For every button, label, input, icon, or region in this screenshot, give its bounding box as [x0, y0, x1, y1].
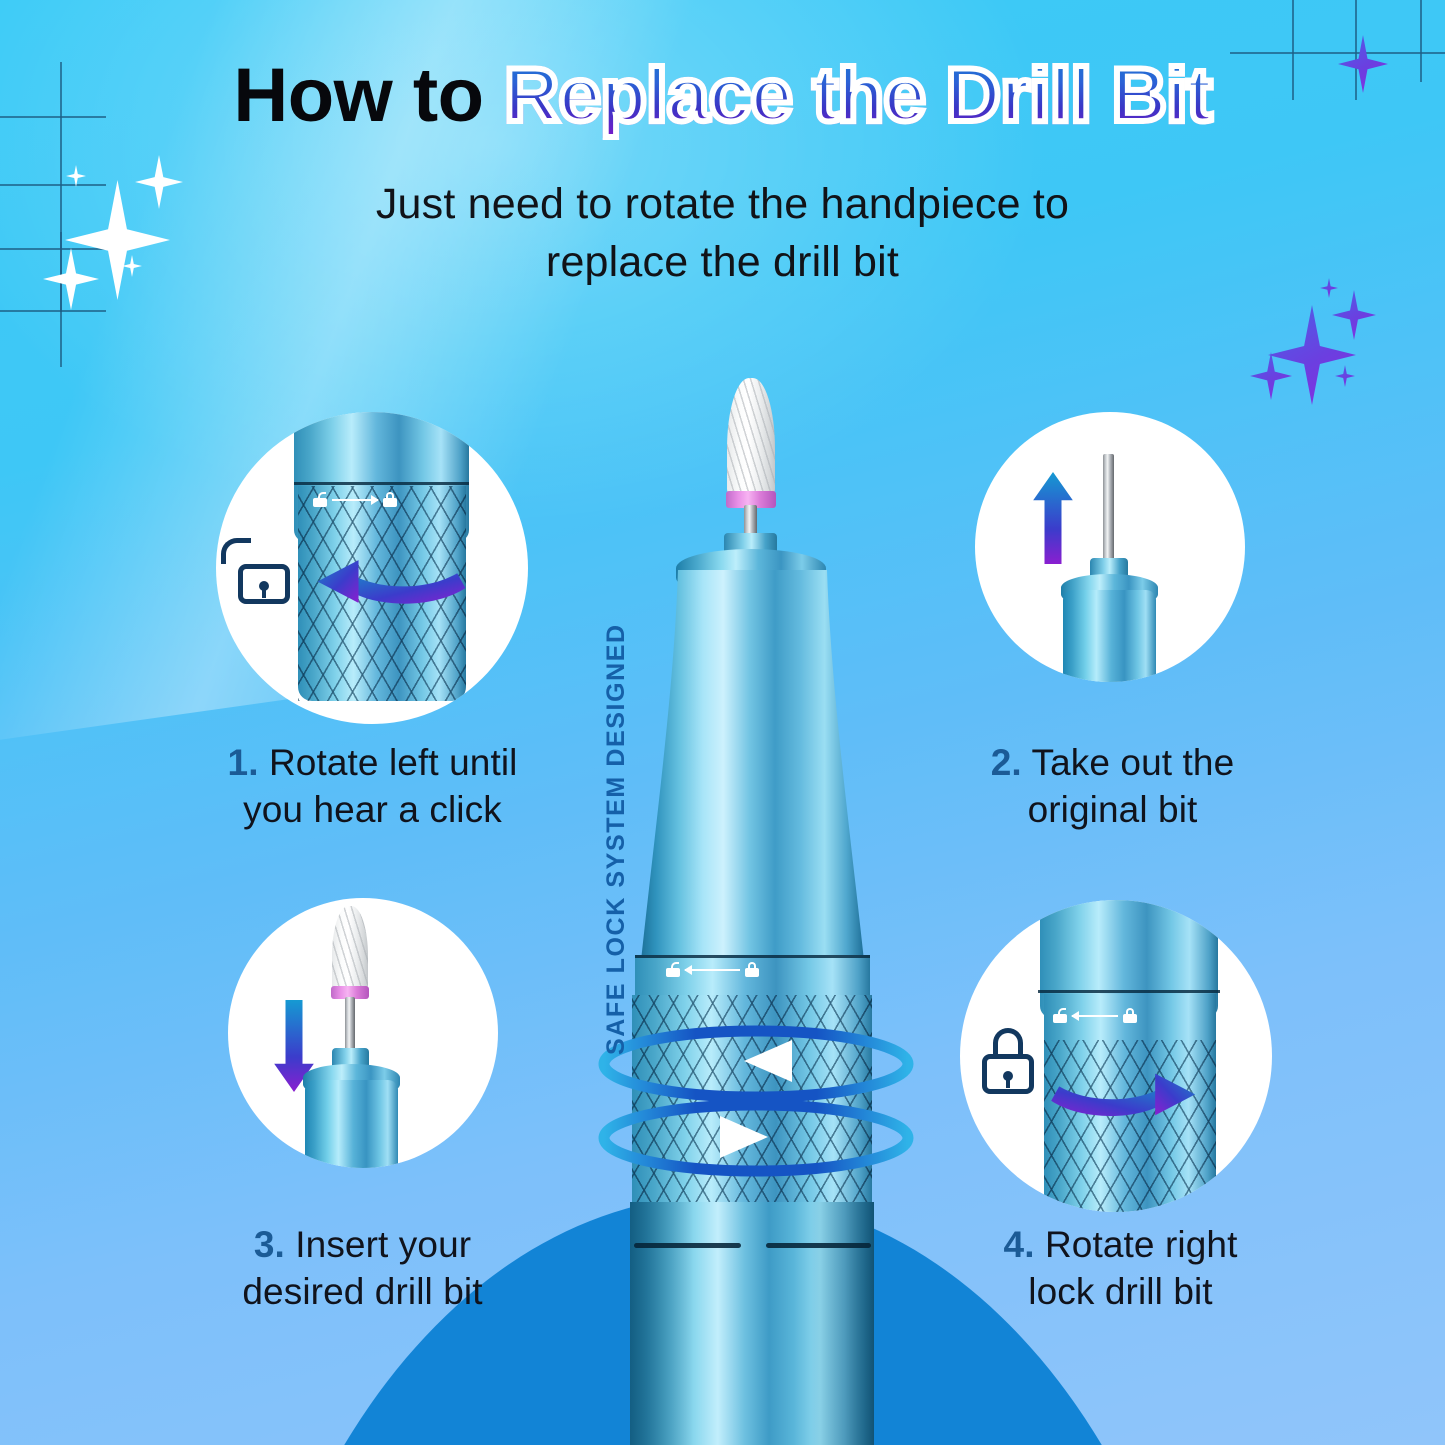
rotate-right-arrow-icon — [1048, 1056, 1208, 1128]
unlock-glyph-icon — [665, 962, 681, 977]
step-4-illustration — [960, 900, 1272, 1212]
step-text: lock drill bit — [888, 1269, 1353, 1316]
lock-glyph-icon — [382, 492, 398, 507]
unlock-glyph-icon — [1052, 1008, 1068, 1023]
step-3-illustration — [228, 898, 498, 1168]
handpiece-body-upper — [630, 570, 875, 970]
page-title: How to Replace the Drill Bit — [0, 57, 1445, 135]
drill-bit-shank — [1103, 454, 1114, 570]
handpiece-knurled-section — [632, 995, 872, 1205]
step-1-caption: 1. Rotate left until you hear a click — [140, 740, 605, 833]
handpiece-tip — [305, 1080, 398, 1168]
direction-arrow-icon — [332, 499, 378, 501]
handpiece-shoulder — [676, 549, 826, 597]
handpiece-collar — [635, 955, 870, 1001]
lock-glyph-icon — [744, 962, 760, 977]
sparkle-icon — [1332, 290, 1376, 340]
step-3-caption: 3. Insert your desired drill bit — [130, 1222, 595, 1315]
knurl-texture — [632, 995, 872, 1205]
step-text: Take out the — [1022, 742, 1235, 783]
step-number: 3. — [254, 1224, 285, 1265]
ceramic-drill-bit — [727, 378, 775, 496]
step-number: 1. — [228, 742, 259, 783]
collar-band — [294, 482, 469, 485]
ceramic-drill-bit — [332, 906, 368, 990]
title-part-accent: Replace the Drill Bit — [504, 53, 1211, 138]
grid-line-horizontal — [0, 310, 106, 312]
title-part-plain: How to — [233, 53, 504, 138]
collar-band — [1038, 990, 1220, 993]
drill-bit-collar-ring — [726, 491, 776, 508]
direction-arrow-icon — [1072, 1015, 1118, 1017]
lock-direction-marks — [665, 962, 760, 977]
handpiece-tip — [1063, 590, 1156, 682]
step-text: original bit — [880, 787, 1345, 834]
step-text: Rotate left until — [259, 742, 518, 783]
grid-line-horizontal — [1230, 52, 1445, 54]
rotation-indicator — [596, 1020, 916, 1195]
page-subtitle: Just need to rotate the handpiece to rep… — [0, 176, 1445, 291]
sparkle-icon — [1335, 365, 1355, 387]
lock-direction-marks — [312, 492, 398, 507]
step-4-caption: 4. Rotate right lock drill bit — [888, 1222, 1353, 1315]
lock-direction-marks — [1052, 1008, 1138, 1023]
direction-arrow-icon — [685, 969, 740, 971]
unlock-glyph-icon — [312, 492, 328, 507]
step-2-caption: 2. Take out the original bit — [880, 740, 1345, 833]
sparkle-icon — [1268, 305, 1356, 405]
infographic-poster: How to Replace the Drill Bit Just need t… — [0, 0, 1445, 1445]
collar-band — [635, 955, 870, 958]
step-text: desired drill bit — [130, 1269, 595, 1316]
step-2-illustration — [975, 412, 1245, 682]
unlock-icon — [238, 538, 290, 604]
step-text: you hear a click — [140, 787, 605, 834]
drill-bit-shank — [744, 505, 757, 540]
rotate-left-arrow-icon — [304, 542, 469, 616]
step-1-illustration — [216, 412, 528, 724]
product-label: SAFE LOCK SYSTEM DESIGNED — [602, 623, 631, 1055]
arrow-up-icon — [1031, 472, 1075, 564]
subtitle-line-1: Just need to rotate the handpiece to — [0, 176, 1445, 234]
handpiece-chuck — [724, 533, 777, 561]
step-text: Insert your — [285, 1224, 471, 1265]
lock-glyph-icon — [1122, 1008, 1138, 1023]
lock-icon — [982, 1028, 1034, 1094]
step-number: 2. — [991, 742, 1022, 783]
step-number: 4. — [1004, 1224, 1035, 1265]
subtitle-line-2: replace the drill bit — [0, 234, 1445, 292]
step-text: Rotate right — [1035, 1224, 1238, 1265]
